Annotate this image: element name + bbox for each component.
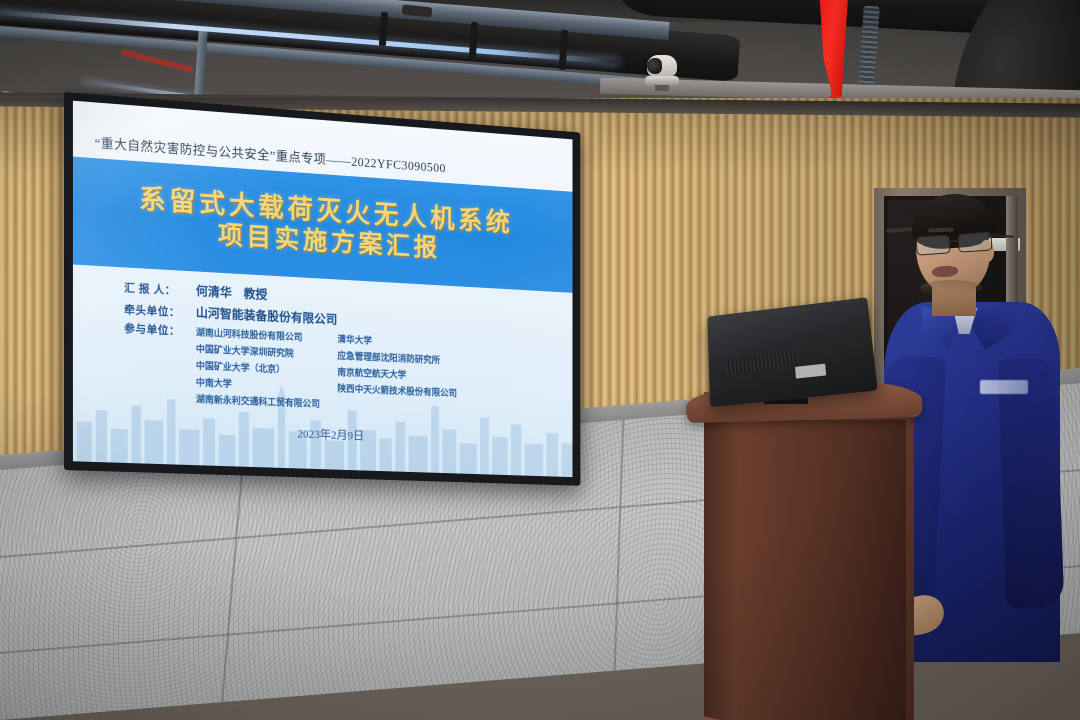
chin-shadow [920,280,982,296]
eyebrow-left [886,227,912,233]
participant-column-left: 湖南山河科技股份有限公司 中国矿业大学深圳研究院 中国矿业大学（北京） 中南大学… [196,328,337,410]
list-item: 湖南山河科技股份有限公司 [196,328,337,345]
slide-canvas: “重大自然灾害防控与公共安全”重点专项——2022YFC3090500 系留式大… [73,101,573,477]
presentation-display[interactable]: “重大自然灾害防控与公共安全”重点专项——2022YFC3090500 系留式大… [64,92,580,486]
list-item: 陕西中天火箭技术股份有限公司 [337,383,491,399]
slide-meta-block: 汇 报 人： 何清华 教授 牵头单位： 山河智能装备股份有限公司 参与单位： 湖… [124,281,560,425]
meta-label-participants: 参与单位： [124,324,196,339]
camera-lens-icon [647,58,662,74]
participant-column-right: 清华大学 应急管理部沈阳消防研究所 南京航空航天大学 陕西中天火箭技术股份有限公… [337,335,491,416]
meta-row-participants: 参与单位： 湖南山河科技股份有限公司 中国矿业大学深圳研究院 中国矿业大学（北京… [124,324,560,418]
meta-label-presenter: 汇 报 人： [124,283,196,298]
list-item: 清华大学 [337,335,491,352]
podium-front-panel [730,420,906,720]
list-item: 中国矿业大学（北京） [196,361,337,377]
list-item: 应急管理部沈阳消防研究所 [337,351,491,368]
meta-value-presenter: 何清华 教授 [196,285,267,302]
list-item: 中南大学 [196,377,337,393]
monitor-label [795,364,826,379]
jacket-logo [980,380,1028,394]
meta-label-lead-org: 牵头单位： [124,305,196,320]
speaker-arm-right [998,357,1065,609]
ptz-camera-icon [645,55,679,89]
glasses-lens-left [915,234,950,255]
podium-side-panel [704,408,738,720]
confidence-monitor[interactable] [707,297,877,407]
monitor-vent [726,349,800,376]
presentation-room-photo: “重大自然灾害防控与公共安全”重点专项——2022YFC3090500 系留式大… [0,0,1080,720]
list-item: 南京航空航天大学 [337,367,491,383]
participant-org-columns: 湖南山河科技股份有限公司 中国矿业大学深圳研究院 中国矿业大学（北京） 中南大学… [196,328,492,416]
list-item: 中国矿业大学深圳研究院 [196,344,337,360]
list-item: 湖南新永利交通科工贸有限公司 [196,394,337,409]
meta-value-lead-org: 山河智能装备股份有限公司 [196,306,337,326]
